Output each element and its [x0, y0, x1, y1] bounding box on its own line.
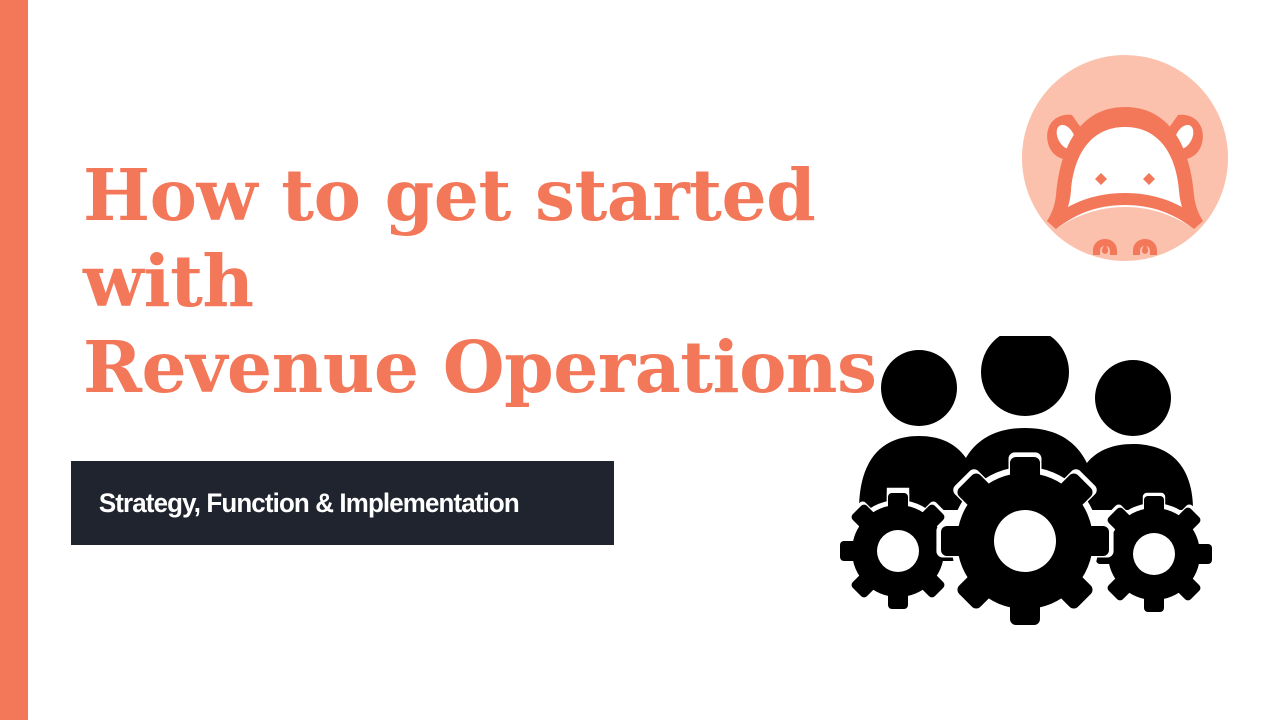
left-accent-bar: [0, 0, 28, 720]
hippo-logo-icon: [1022, 55, 1228, 261]
subtitle-text: Strategy, Function & Implementation: [71, 488, 519, 519]
subtitle-banner: Strategy, Function & Implementation: [71, 461, 614, 545]
slide-canvas: How to get started with Revenue Operatio…: [0, 0, 1280, 720]
people-and-gears-icon: [826, 336, 1226, 636]
